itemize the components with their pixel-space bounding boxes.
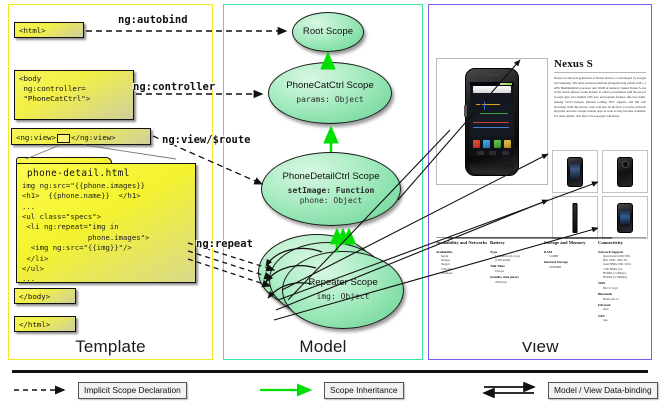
phone-screen (470, 82, 514, 156)
spec-val: 428 hours (495, 280, 542, 284)
panel-template-label: Template (9, 337, 212, 357)
spec-values-3-0: Quad-band GSM: 850, 900, 1800, 1900 Tri-… (598, 254, 650, 279)
phone-speaker (485, 74, 499, 76)
spec-column-battery: Battery Type Lithium Ion (Li-Ion) (1500 … (490, 240, 542, 284)
code-tag-html-open: <html> (14, 22, 84, 38)
phone-status-icons (500, 83, 512, 85)
legend: Implicit Scope Declaration Scope Inherit… (12, 380, 648, 406)
code-tag-ngview: <ng:view></ng:view> (11, 128, 151, 145)
spec-header-2: Storage and Memory (544, 240, 602, 248)
scope-repeater-front: Repeater Scope img: Object (282, 251, 404, 329)
spec-values-1-0: Lithium Ion (Li-Ion) (1500 mAH) (490, 254, 542, 262)
scope-phonedetailctrl-prop-phone: phone: Object (300, 196, 363, 206)
phone-volume-button (464, 105, 467, 117)
mini-phone-back-icon (617, 157, 633, 187)
spec-val: 6 hours (495, 269, 542, 273)
nav-icon-1 (477, 151, 484, 155)
spec-column-connectivity: Connectivity Network Support Quad-band G… (598, 240, 650, 322)
edge-label-autobind: ng:autobind (118, 14, 188, 26)
spec-values-3-1: 802.11 b/g/n (598, 286, 650, 290)
scope-repeater-stack: Repeater Scope img: Object (258, 234, 410, 342)
scope-root: Root Scope (292, 12, 364, 52)
spec-val: true (603, 318, 650, 322)
mini-camera-icon (622, 161, 629, 168)
edge-label-repeat: ng:repeat (196, 238, 253, 250)
spec-values-1-1: 6 hours (490, 269, 542, 273)
screen-line-5 (473, 127, 509, 128)
screen-line-3 (480, 113, 508, 114)
spec-values-2-1: 16384MB (544, 265, 602, 269)
spec-val: 16384MB (549, 265, 602, 269)
spec-table-divider (436, 237, 646, 238)
spec-val: false (603, 307, 650, 311)
spec-val: (1500 mAH) (495, 258, 542, 262)
scope-root-name: Root Scope (303, 27, 353, 38)
view-thumbnail-grid (552, 150, 648, 238)
spec-header-0: Availability and Networks (436, 240, 488, 248)
file-card-phone-detail: phone-detail.html img ng:src="{{phone.im… (16, 163, 196, 283)
thumbnail-phone-edge[interactable] (552, 196, 598, 239)
scope-phonecatctrl-prop-params: params: Object (296, 95, 363, 105)
spec-header-3: Connectivity (598, 240, 650, 248)
spec-column-availability: Availability and Networks Availability S… (436, 240, 488, 275)
edge-label-controller: ng:controller (133, 81, 215, 93)
spec-values-2-0: 512MB (544, 254, 602, 258)
view-page-description: Nexus S is the next generation of Nexus … (554, 76, 646, 138)
spec-val: HSUPA (5.76Mbps) (603, 275, 650, 279)
ngview-open-text: <ng:view> (16, 133, 56, 142)
spec-val: Bluetooth 2.1 (603, 297, 650, 301)
dock-icon-2 (483, 140, 490, 148)
legend-divider (12, 370, 648, 373)
spec-column-storage: Storage and Memory RAM 512MB Internal St… (544, 240, 602, 269)
dashed-arrow-icon (12, 382, 74, 398)
scope-repeater-prop-img: img: Object (317, 292, 370, 302)
legend-label-implicit-scope: Implicit Scope Declaration (78, 382, 187, 399)
view-spec-table: Availability and Networks Availability S… (436, 240, 646, 344)
thumbnail-phone-front[interactable] (552, 150, 598, 193)
spec-val: 512MB (549, 254, 602, 258)
phone-search-widget (473, 86, 511, 93)
legend-item-implicit-scope: Implicit Scope Declaration (12, 380, 187, 400)
mini-screen-tilted (620, 209, 630, 226)
hero-image-frame (436, 58, 548, 185)
green-arrow-svg (258, 382, 320, 398)
dock-icon-4 (504, 140, 511, 148)
spec-values-3-4: true (598, 318, 650, 322)
screen-line-4 (473, 122, 509, 123)
thumbnail-phone-tilted[interactable] (602, 196, 648, 239)
scope-phonecatctrl: PhoneCatCtrl Scope params: Object (268, 62, 392, 124)
view-title-divider (554, 72, 646, 73)
scope-phonedetailctrl: PhoneDetailCtrl Scope setImage: Function… (261, 152, 401, 226)
double-arrow-svg (482, 382, 544, 398)
legend-label-scope-inheritance: Scope Inheritance (324, 382, 404, 399)
spec-values-0-0: Sprint Orange Singtel T-Mobile Vodafone (436, 254, 488, 275)
thumbnail-phone-back[interactable] (602, 150, 648, 193)
scope-phonedetailctrl-name: PhoneDetailCtrl Scope (282, 172, 379, 183)
scope-phonecatctrl-name: PhoneCatCtrl Scope (286, 81, 373, 92)
dock-icon-3 (494, 140, 501, 148)
screen-line-1 (476, 104, 500, 105)
spec-values-3-3: false (598, 307, 650, 311)
mini-screen (570, 162, 580, 180)
mini-phone-front-icon (567, 157, 583, 187)
dock-icon-1 (473, 140, 480, 148)
code-tag-html-close: </html> (14, 316, 76, 332)
nav-icon-2 (489, 151, 496, 155)
double-arrow-icon (482, 382, 544, 398)
file-card-code: img ng:src="{{phone.images}} <h1> {{phon… (17, 181, 195, 285)
scope-phonedetailctrl-prop-setimage: setImage: Function (288, 186, 375, 196)
ngview-close-text: </ng:view> (71, 133, 116, 142)
spec-val: 802.11 b/g/n (603, 286, 650, 290)
legend-label-data-binding: Model / View Data-binding (548, 382, 658, 399)
phone-bottom-bezel (470, 164, 514, 173)
dashed-arrow-svg (12, 382, 74, 398)
nav-icon-3 (502, 151, 509, 155)
phone-nav-icons (474, 150, 512, 155)
edge-label-view-route: ng:view/$route (162, 134, 251, 146)
phone-dock-icons (473, 140, 511, 148)
spec-values-1-2: 428 hours (490, 280, 542, 284)
file-card-filename: phone-detail.html (17, 164, 195, 181)
code-tag-body-close: </body> (14, 288, 76, 304)
spec-header-1: Battery (490, 240, 542, 248)
spec-values-3-2: Bluetooth 2.1 (598, 297, 650, 301)
legend-item-data-binding: Model / View Data-binding (482, 380, 658, 400)
scope-repeater-name: Repeater Scope (308, 278, 377, 289)
view-rendered-page: Nexus S Nexus S is the next generation o… (434, 12, 646, 342)
code-tag-body-open: <body ng:controller= "PhoneCatCtrl"> (14, 70, 134, 120)
spec-val: Vodafone (441, 271, 488, 275)
green-arrow-icon (258, 382, 320, 398)
mini-phone-edge-icon (573, 203, 578, 233)
ngview-slot-icon (57, 134, 70, 143)
diagram-canvas: Template Model View <html> <body ng:cont… (0, 0, 660, 420)
legend-item-scope-inheritance: Scope Inheritance (258, 380, 404, 400)
mini-phone-tilted-icon (617, 203, 633, 233)
hero-phone-image (465, 68, 519, 176)
view-page-title: Nexus S (554, 58, 646, 70)
